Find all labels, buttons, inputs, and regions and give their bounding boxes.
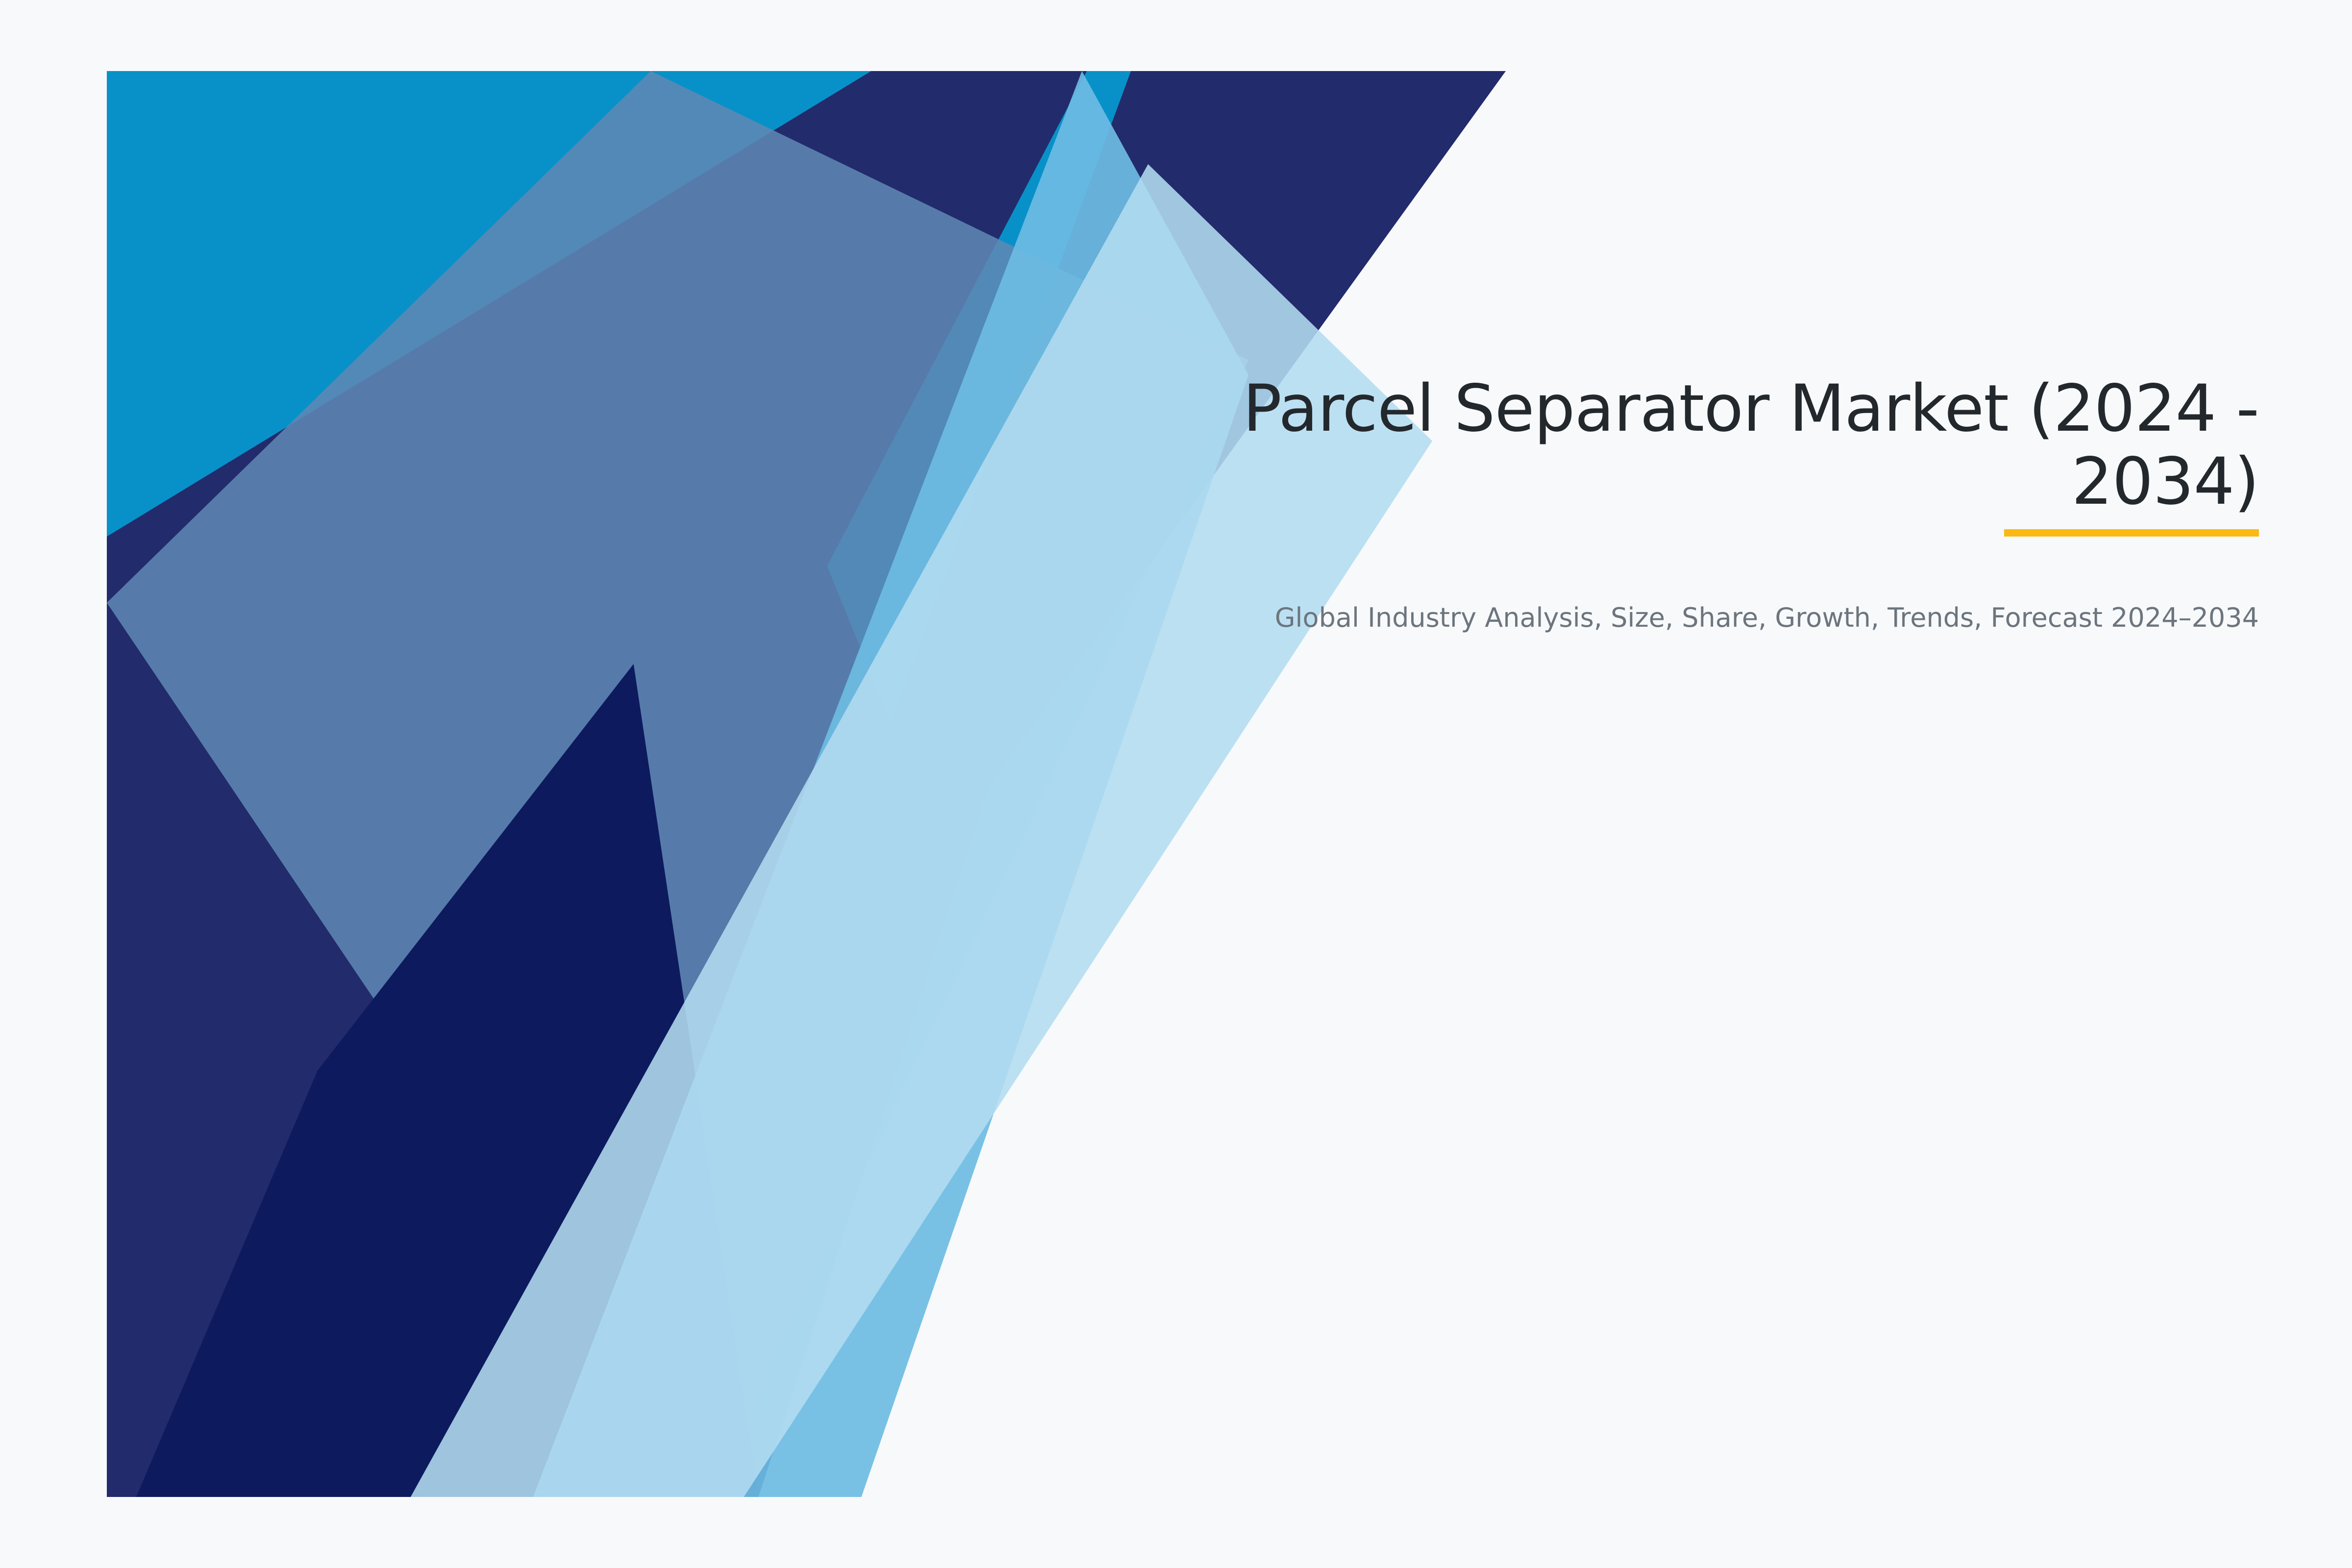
title-accent-underline: [2004, 529, 2259, 537]
page-title: Parcel Separator Market (2024 - 2034): [1058, 372, 2259, 518]
decorative-artwork-panel: [107, 71, 1508, 1497]
title-slide: Parcel Separator Market (2024 - 2034) Gl…: [0, 0, 2352, 1568]
title-wrapper: Parcel Separator Market (2024 - 2034): [1058, 372, 2259, 518]
title-text-block: Parcel Separator Market (2024 - 2034) Gl…: [1058, 372, 2259, 636]
abstract-geometric-polygons-svg: [107, 71, 1508, 1497]
